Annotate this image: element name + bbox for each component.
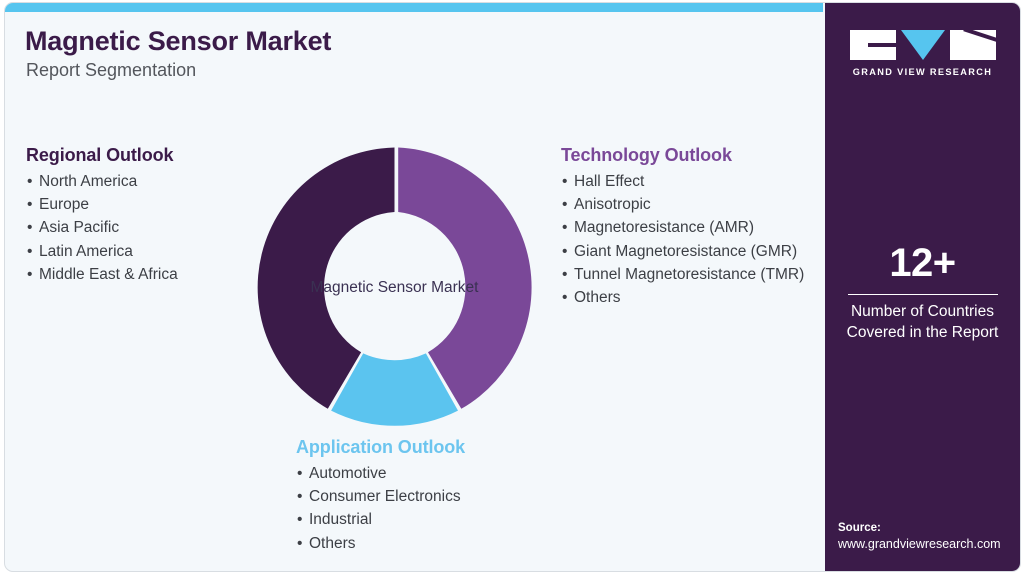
list-item: Giant Magnetoresistance (GMR)	[561, 240, 816, 263]
source-block: Source: www.grandviewresearch.com	[838, 520, 1001, 553]
brand-side-panel: GRAND VIEW RESEARCH 12+ Number of Countr…	[825, 3, 1020, 572]
application-outlook-heading: Application Outlook	[296, 437, 546, 458]
page-title: Magnetic Sensor Market	[25, 26, 331, 57]
logo-r-icon	[950, 30, 996, 60]
stat-caption-line-1: Number of Countries	[825, 302, 1020, 323]
source-url[interactable]: www.grandviewresearch.com	[838, 536, 1001, 553]
list-item: Consumer Electronics	[296, 485, 546, 508]
stat-caption-line-2: Covered in the Report	[825, 323, 1020, 344]
list-item: Europe	[26, 193, 256, 216]
list-item: North America	[26, 170, 256, 193]
logo-wordmark: GRAND VIEW RESEARCH	[850, 67, 996, 77]
list-item: Latin America	[26, 240, 256, 263]
list-item: Middle East & Africa	[26, 263, 256, 286]
logo-g-icon	[850, 30, 896, 60]
list-item: Magnetoresistance (AMR)	[561, 216, 816, 239]
application-outlook-list: Automotive Consumer Electronics Industri…	[296, 462, 546, 555]
list-item: Asia Pacific	[26, 216, 256, 239]
regional-outlook-heading: Regional Outlook	[26, 145, 256, 166]
stat-divider	[848, 294, 998, 295]
top-accent-bar	[5, 3, 823, 12]
list-item: Others	[561, 286, 816, 309]
donut-svg	[251, 144, 538, 431]
technology-outlook-list: Hall Effect Anisotropic Magnetoresistanc…	[561, 170, 816, 309]
list-item: Automotive	[296, 462, 546, 485]
countries-stat-block: 12+ Number of Countries Covered in the R…	[825, 241, 1020, 343]
technology-outlook-heading: Technology Outlook	[561, 145, 816, 166]
stat-value: 12+	[825, 241, 1020, 285]
page-subtitle: Report Segmentation	[26, 60, 196, 81]
infographic-card: Magnetic Sensor Market Report Segmentati…	[4, 2, 1021, 572]
logo-marks	[850, 30, 996, 60]
segmentation-donut-chart: Magnetic Sensor Market	[251, 144, 538, 431]
technology-outlook-block: Technology Outlook Hall Effect Anisotrop…	[561, 145, 816, 309]
regional-outlook-block: Regional Outlook North America Europe As…	[26, 145, 256, 286]
triangle-icon	[901, 30, 945, 60]
list-item: Industrial	[296, 508, 546, 531]
application-outlook-block: Application Outlook Automotive Consumer …	[296, 437, 546, 555]
list-item: Hall Effect	[561, 170, 816, 193]
list-item: Tunnel Magnetoresistance (TMR)	[561, 263, 816, 286]
grand-view-research-logo: GRAND VIEW RESEARCH	[850, 30, 996, 77]
source-label: Source:	[838, 520, 1001, 536]
list-item: Others	[296, 532, 546, 555]
list-item: Anisotropic	[561, 193, 816, 216]
logo-v-triangle-icon	[901, 30, 945, 60]
regional-outlook-list: North America Europe Asia Pacific Latin …	[26, 170, 256, 286]
